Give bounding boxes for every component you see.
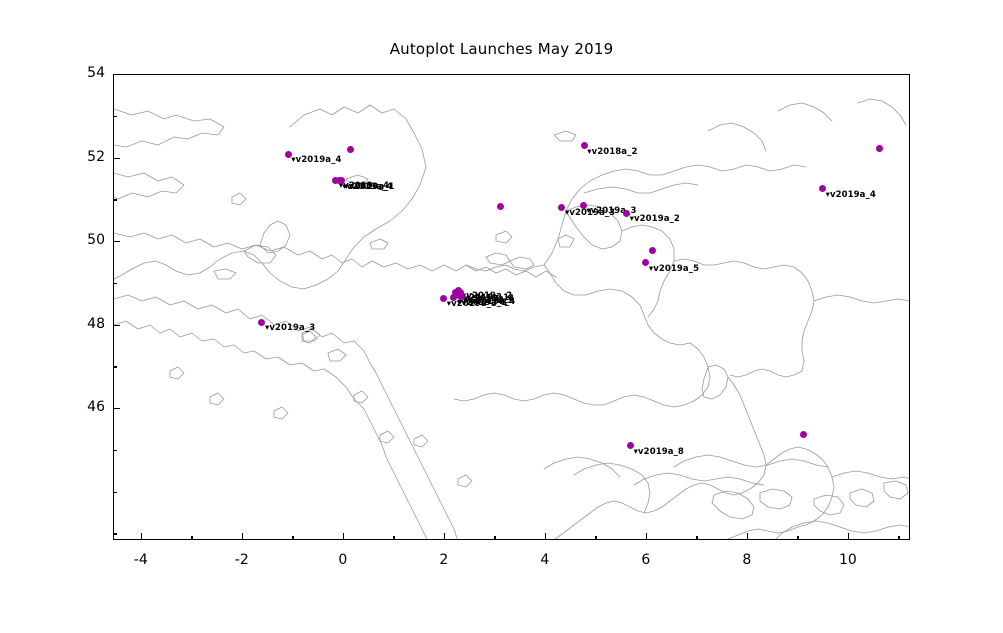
y-tick-minor: [113, 492, 117, 493]
y-tick-minor: [113, 199, 117, 200]
point-label: ▾v2019a_2: [630, 214, 680, 224]
y-tick-major: [113, 158, 120, 159]
x-tick-major: [343, 533, 344, 540]
x-tick-major: [141, 533, 142, 540]
y-tick-label: 54: [65, 65, 105, 81]
x-tick-major: [444, 533, 445, 540]
y-tick-label: 50: [65, 232, 105, 248]
y-tick-label: 48: [65, 316, 105, 332]
x-tick-label: -4: [111, 552, 171, 568]
point-label: ▾v2018a_2: [587, 147, 637, 157]
point-label: ▾v2019a_4: [826, 190, 876, 200]
y-tick-minor: [113, 116, 117, 117]
scatter-points-layer: ▾v2019a_4▾v2019a_4▾v2019a_4▾v2019a_1▾v20…: [114, 75, 910, 540]
point-label: ▾v2019a_4: [291, 155, 341, 165]
x-tick-label: 10: [818, 552, 878, 568]
y-tick-minor: [113, 533, 117, 534]
x-tick-minor: [191, 536, 192, 540]
x-tick-minor: [595, 536, 596, 540]
x-tick-minor: [898, 536, 899, 540]
point-label: ▾v2019a_1: [344, 182, 394, 192]
x-tick-major: [545, 533, 546, 540]
x-tick-label: 8: [717, 552, 777, 568]
x-tick-major: [242, 533, 243, 540]
x-tick-label: 4: [515, 552, 575, 568]
x-tick-label: 6: [616, 552, 676, 568]
y-tick-major: [113, 241, 120, 242]
y-tick-label: 52: [65, 149, 105, 165]
x-tick-label: 0: [313, 552, 373, 568]
point-label: ▾v2019a_8: [634, 447, 684, 457]
y-tick-major: [113, 408, 120, 409]
point-label: ▾v2019a_3: [265, 323, 315, 333]
x-tick-label: -2: [212, 552, 272, 568]
x-tick-major: [747, 533, 748, 540]
page-title: Autoplot Launches May 2019: [0, 40, 1003, 58]
y-tick-label: 46: [65, 399, 105, 415]
x-tick-major: [646, 533, 647, 540]
x-tick-minor: [797, 536, 798, 540]
x-tick-minor: [292, 536, 293, 540]
y-tick-major: [113, 325, 120, 326]
scatter-point: [347, 146, 354, 153]
x-tick-minor: [494, 536, 495, 540]
plot-area: ▾v2019a_4▾v2019a_4▾v2019a_4▾v2019a_1▾v20…: [113, 74, 910, 540]
x-tick-minor: [393, 536, 394, 540]
scatter-point: [876, 145, 883, 152]
x-tick-minor: [696, 536, 697, 540]
scatter-point: [800, 431, 807, 438]
scatter-point: [497, 203, 504, 210]
x-tick-label: 2: [414, 552, 474, 568]
y-tick-minor: [113, 366, 117, 367]
y-tick-minor: [113, 283, 117, 284]
y-tick-major: [113, 74, 120, 75]
plot-canvas: Autoplot Launches May 2019: [0, 0, 1003, 633]
x-tick-major: [848, 533, 849, 540]
point-label: ▾v2019a_3: [457, 298, 507, 308]
scatter-point: [649, 247, 656, 254]
point-label: ▾v2019a_5: [649, 264, 699, 274]
y-tick-minor: [113, 450, 117, 451]
